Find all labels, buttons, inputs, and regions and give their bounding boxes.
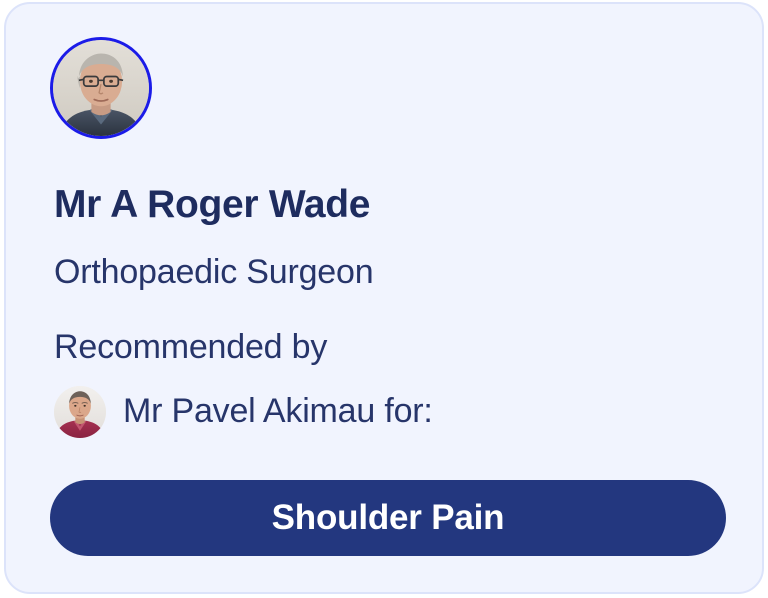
doctor-recommendation-card: Mr A Roger Wade Orthopaedic Surgeon Reco… [4,2,764,594]
doctor-avatar-photo [53,40,149,136]
condition-button[interactable]: Shoulder Pain [50,480,726,556]
recommender-row: Mr Pavel Akimau for: [54,386,433,438]
doctor-specialty: Orthopaedic Surgeon [54,254,373,291]
recommended-by-label: Recommended by [54,329,327,366]
recommender-name: Mr Pavel Akimau for: [123,393,433,430]
doctor-avatar [50,37,152,139]
page-title: Mr A Roger Wade [54,184,370,227]
screenshot-stage: Mr A Roger Wade Orthopaedic Surgeon Reco… [0,0,768,598]
recommender-avatar [54,386,106,438]
